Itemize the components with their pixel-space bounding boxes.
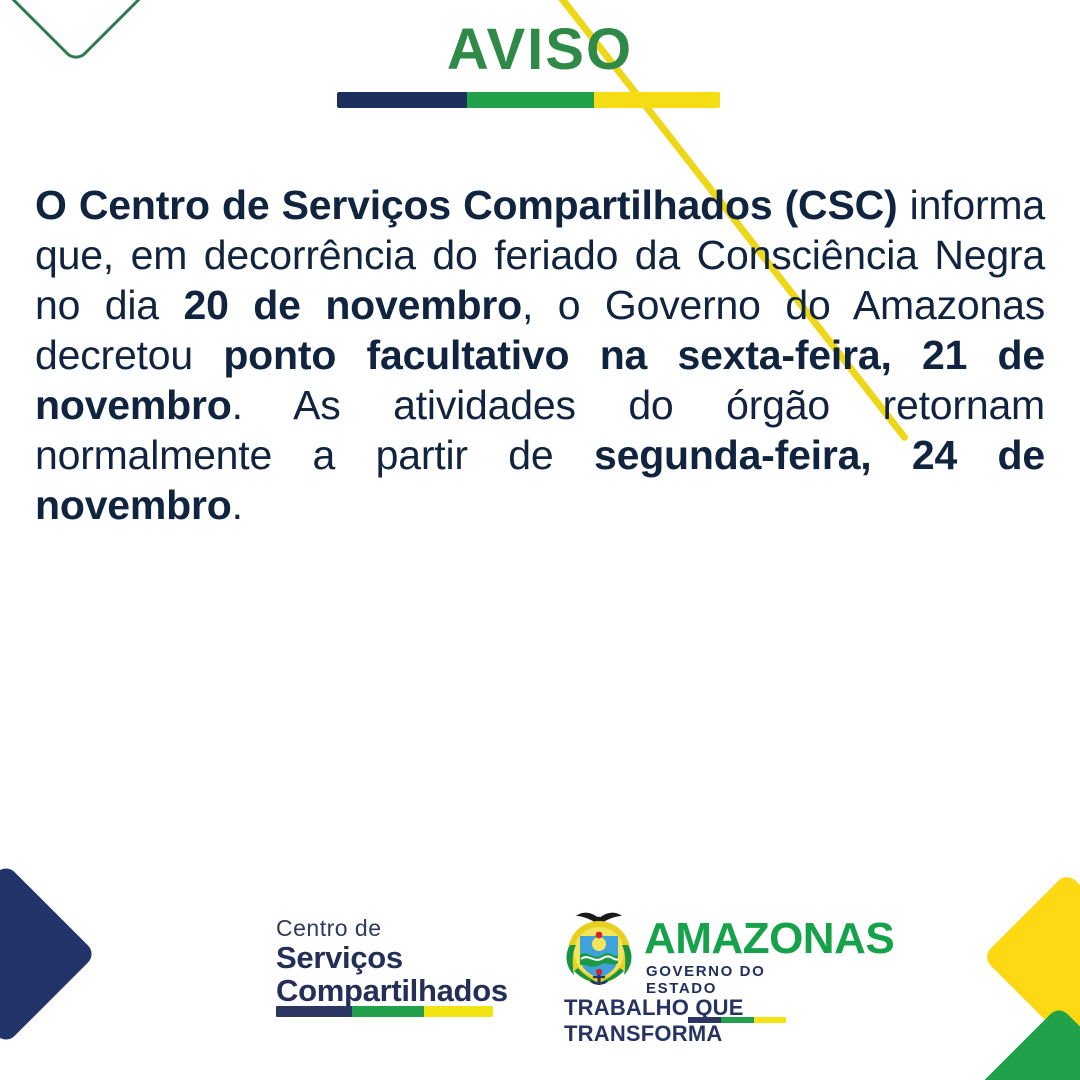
csc-rule-segment-green — [352, 1006, 424, 1017]
amazonas-wordmark: AMAZONAS — [644, 917, 894, 961]
amazonas-rule-segment-yellow — [754, 1017, 786, 1023]
csc-logo-line-2: Serviços — [276, 941, 496, 974]
header-divider-bar — [337, 92, 720, 108]
csc-rule-segment-navy — [276, 1006, 352, 1017]
notice-emphasis-run: 20 de novembro — [184, 282, 522, 328]
green-triangle-decoration — [976, 1006, 1080, 1080]
csc-logo: Centro de Serviços Compartilhados — [276, 915, 496, 1007]
notice-emphasis-run: O Centro de Serviços Compartilhados (CSC… — [35, 182, 897, 228]
csc-logo-line-3: Compartilhados — [276, 974, 496, 1007]
page-title: AVISO — [0, 21, 1080, 79]
divider-segment-yellow — [594, 92, 720, 108]
notice-body-text: O Centro de Serviços Compartilhados (CSC… — [35, 180, 1045, 530]
amazonas-coat-of-arms-icon — [560, 905, 638, 987]
csc-logo-line-1: Centro de — [276, 915, 496, 941]
amazonas-rule-segment-navy — [688, 1017, 721, 1023]
divider-segment-navy — [337, 92, 467, 108]
divider-segment-green — [467, 92, 593, 108]
amazonas-logo: AMAZONAS GOVERNO DO ESTADO TRABALHO QUE … — [560, 903, 810, 1028]
navy-triangle-decoration — [0, 863, 97, 1044]
csc-logo-rule — [276, 1006, 493, 1017]
amazonas-subtitle: GOVERNO DO ESTADO — [646, 963, 810, 997]
csc-rule-segment-yellow — [424, 1006, 493, 1017]
amazonas-rule-segment-green — [721, 1017, 753, 1023]
notice-text-run: . — [232, 482, 243, 528]
amazonas-logo-rule — [688, 1017, 786, 1023]
notice-poster: AVISO O Centro de Serviços Compartilhado… — [0, 0, 1080, 1080]
